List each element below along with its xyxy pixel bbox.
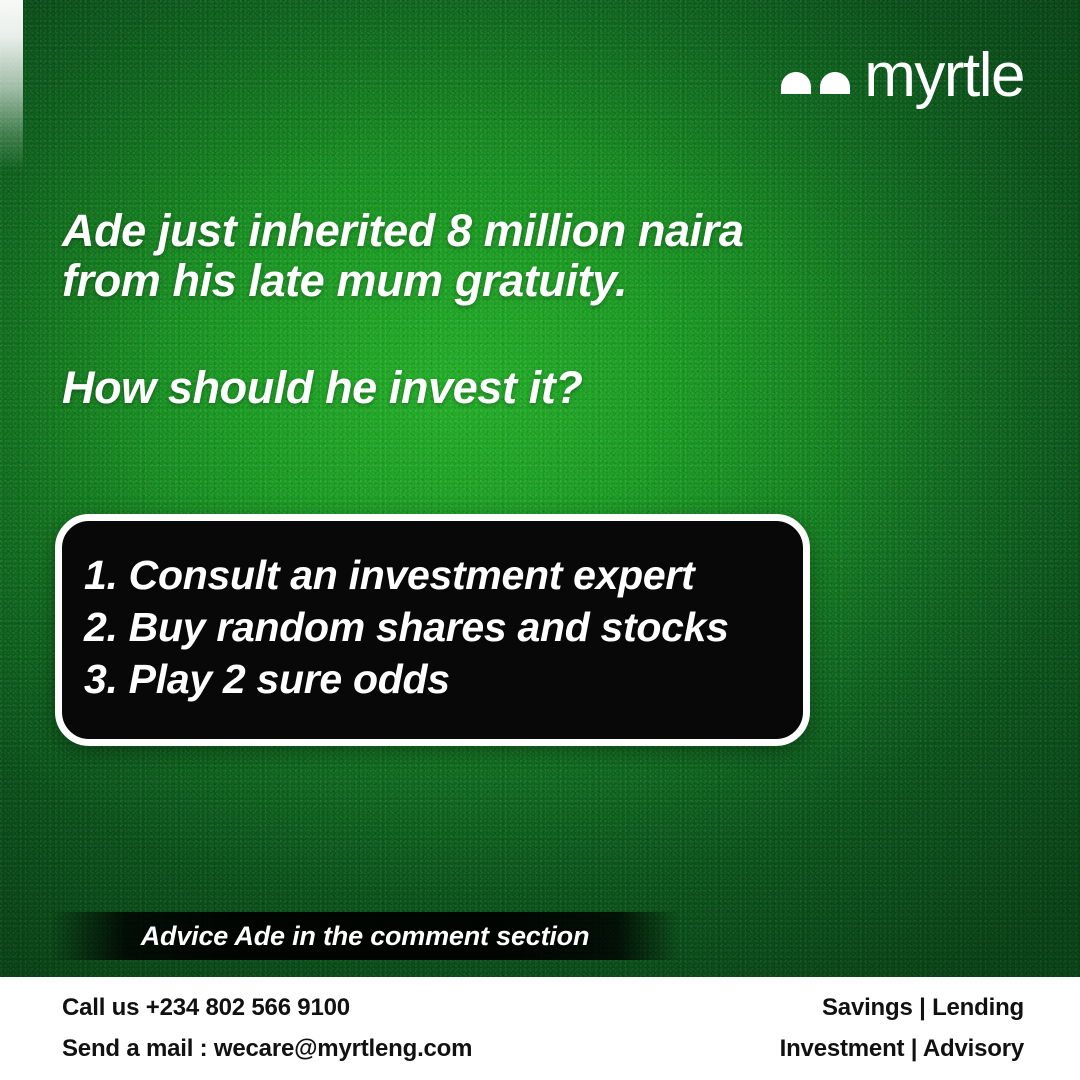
logo-dome-right-icon <box>820 72 850 94</box>
footer-bar: Call us +234 802 566 9100 Send a mail : … <box>0 977 1080 1080</box>
options-card: 1. Consult an investment expert 2. Buy r… <box>55 514 810 746</box>
footer-phone[interactable]: Call us +234 802 566 9100 <box>62 994 472 1022</box>
footer-services-group: Savings | Lending Investment | Advisory <box>780 994 1024 1063</box>
brand-wordmark: myrtle <box>864 47 1024 106</box>
footer-services-line-1: Savings | Lending <box>822 994 1024 1022</box>
footer-services-line-2: Investment | Advisory <box>780 1035 1024 1063</box>
call-to-action-text: Advice Ade in the comment section <box>141 921 590 952</box>
headline-question: How should he invest it? <box>62 363 842 413</box>
option-item-2[interactable]: 2. Buy random shares and stocks <box>84 601 803 653</box>
brand-logo: myrtle <box>781 40 1024 106</box>
option-item-3[interactable]: 3. Play 2 sure odds <box>84 653 803 705</box>
option-item-1[interactable]: 1. Consult an investment expert <box>84 549 803 601</box>
logo-domes-icon <box>781 72 850 106</box>
call-to-action-banner: Advice Ade in the comment section <box>50 912 680 960</box>
social-post-canvas: myrtle Ade just inherited 8 million nair… <box>0 0 1080 1080</box>
logo-dome-left-icon <box>781 72 811 94</box>
footer-contact-group: Call us +234 802 566 9100 Send a mail : … <box>62 994 472 1063</box>
headline-block: Ade just inherited 8 million naira from … <box>62 206 842 413</box>
green-background <box>0 0 1080 977</box>
headline-line-2: from his late mum gratuity. <box>62 255 627 306</box>
headline-line-1: Ade just inherited 8 million naira <box>62 205 744 256</box>
background-vignette <box>0 0 1080 977</box>
footer-email[interactable]: Send a mail : wecare@myrtleng.com <box>62 1035 472 1063</box>
corner-light-strip <box>0 0 23 170</box>
